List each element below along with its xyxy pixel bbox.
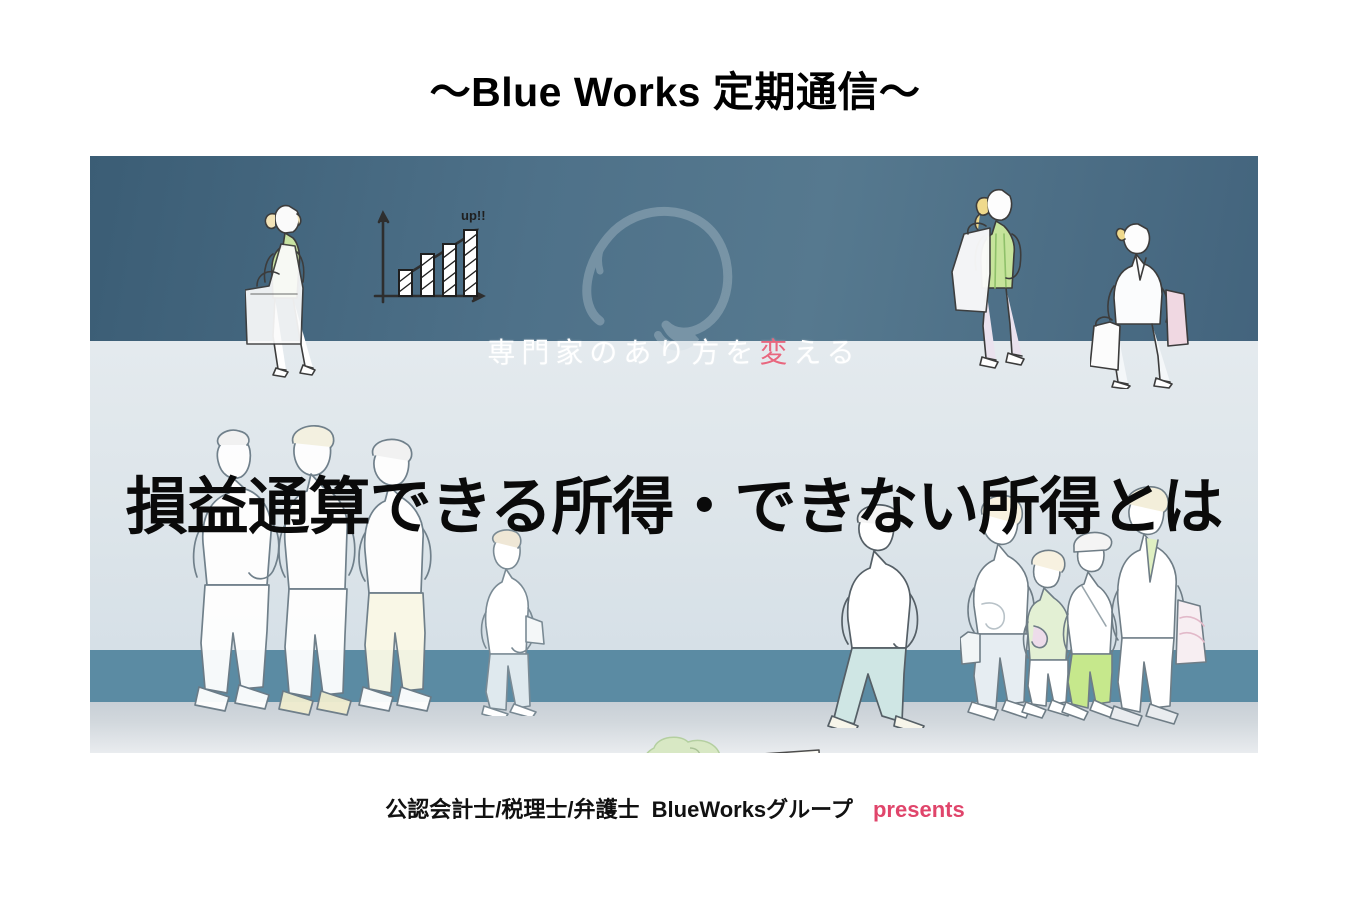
illustration-shop-building bbox=[727, 744, 827, 753]
footer-brand: BlueWorksグループ bbox=[652, 797, 853, 822]
tagline-suffix: える bbox=[793, 337, 860, 368]
chart-up-label: up!! bbox=[461, 208, 486, 223]
tagline-prefix: 専門家のあり方を bbox=[487, 337, 759, 368]
tagline-accent: 変 bbox=[759, 337, 793, 368]
hero-image: up!! bbox=[90, 156, 1258, 753]
page-title: 〜Blue Works 定期通信〜 bbox=[0, 58, 1350, 118]
illustration-growth-chart: up!! bbox=[365, 204, 490, 319]
footer-presents: presents bbox=[873, 797, 965, 822]
hero-tagline: 専門家のあり方を変える bbox=[90, 331, 1258, 371]
illustration-walking-woman bbox=[468, 526, 548, 716]
illustration-tree bbox=[634, 734, 738, 753]
footer-credits: 公認会計士/税理士/弁護士 BlueWorksグループ presents bbox=[0, 792, 1350, 824]
hero-headline: 損益通算できる所得・できない所得とは bbox=[90, 456, 1258, 546]
footer-credentials: 公認会計士/税理士/弁護士 bbox=[385, 797, 639, 822]
